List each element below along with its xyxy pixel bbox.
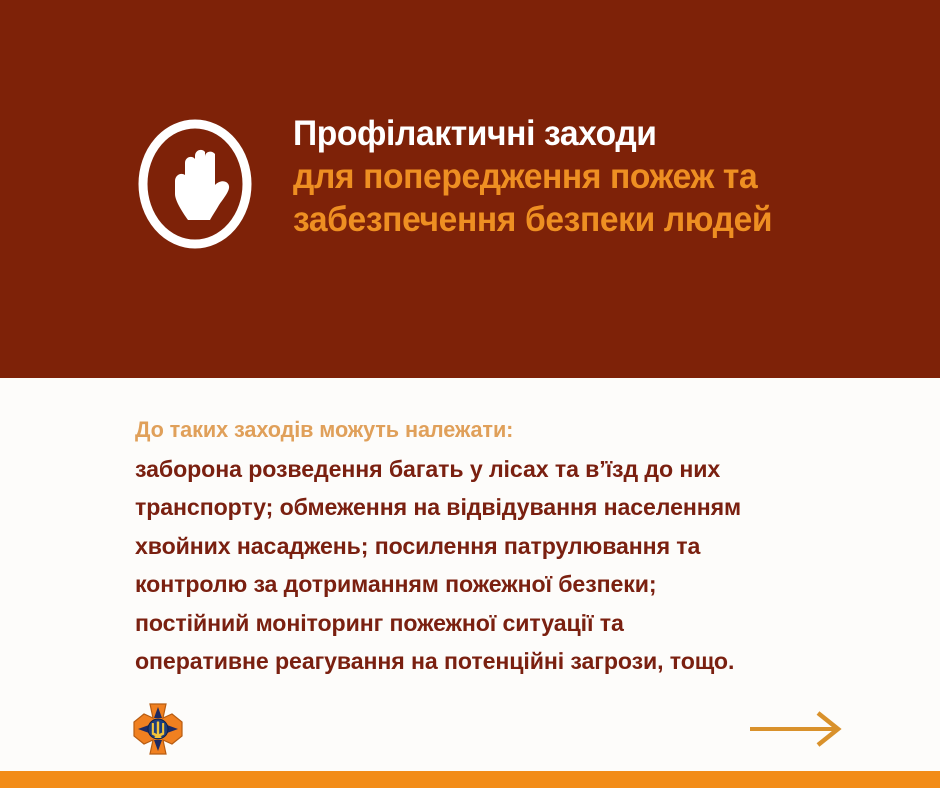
- body-line: постійний моніторинг пожежної ситуації т…: [135, 604, 903, 643]
- dsns-ukraine-emblem: [130, 700, 186, 758]
- body-line: заборона розведення багать у лісах та в’…: [135, 450, 903, 489]
- bottom-accent-bar: [0, 771, 940, 788]
- page-title: Профілактичні заходи для попередження по…: [293, 112, 893, 241]
- title-line-2: для попередження пожеж та: [293, 155, 869, 198]
- footer-row: [0, 695, 940, 771]
- body-text-block: До таких заходів можуть належати: заборо…: [135, 411, 915, 681]
- body-line: контролю за дотриманням пожежної безпеки…: [135, 565, 903, 604]
- title-line-3: забезпечення безпеки людей: [293, 198, 869, 241]
- header-content: Профілактичні заходи для попередження по…: [135, 112, 895, 262]
- header-band: Профілактичні заходи для попередження по…: [0, 0, 940, 378]
- title-line-1: Профілактичні заходи: [293, 112, 869, 155]
- next-arrow-icon[interactable]: [748, 711, 844, 747]
- body-line: оперативне реагування на потенційні загр…: [135, 642, 903, 681]
- infographic-slide: Профілактичні заходи для попередження по…: [0, 0, 940, 788]
- body-lead-line: До таких заходів можуть належати:: [135, 411, 903, 450]
- body-line: хвойних насаджень; посилення патрулюванн…: [135, 527, 903, 566]
- stop-hand-icon: [135, 115, 255, 253]
- body-line: транспорту; обмеження на відвідування на…: [135, 488, 903, 527]
